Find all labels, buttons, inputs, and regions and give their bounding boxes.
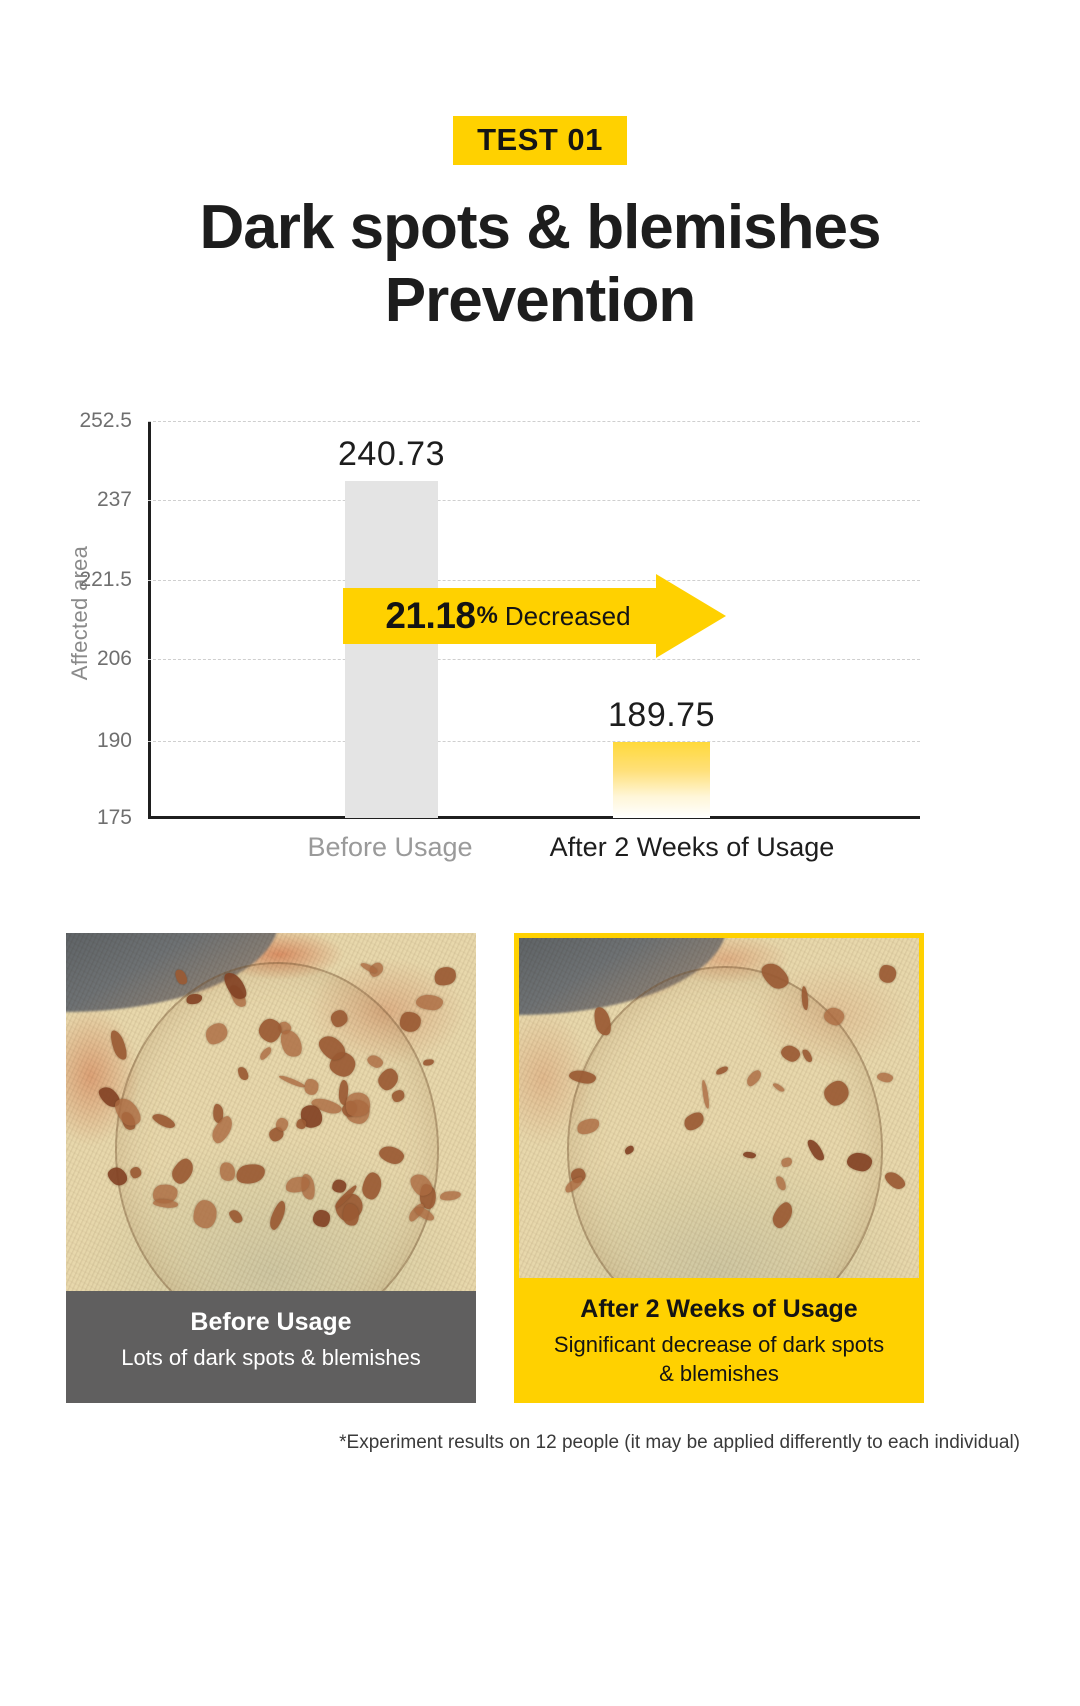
card-after-subtitle-line1: Significant decrease of dark spots — [554, 1332, 884, 1357]
chart-y-tick-label: 221.5 — [12, 568, 132, 592]
card-before-caption: Before Usage Lots of dark spots & blemis… — [66, 1291, 476, 1403]
decrease-arrow: 21.18 % Decreased — [343, 574, 726, 658]
decrease-arrow-text: 21.18 % Decreased — [343, 574, 673, 658]
card-before: Before Usage Lots of dark spots & blemis… — [66, 933, 476, 1403]
card-after: After 2 Weeks of Usage Significant decre… — [514, 933, 924, 1403]
card-before-subtitle: Lots of dark spots & blemishes — [76, 1344, 466, 1373]
chart-gridline — [148, 741, 920, 742]
page-title-line2: Prevention — [385, 266, 695, 335]
comparison-cards: Before Usage Lots of dark spots & blemis… — [0, 933, 1080, 1403]
test-badge: TEST 01 — [453, 116, 627, 165]
card-after-subtitle: Significant decrease of dark spots & ble… — [529, 1331, 909, 1388]
card-after-caption: After 2 Weeks of Usage Significant decre… — [519, 1278, 919, 1398]
chart-x-axis-line — [148, 816, 920, 819]
bar-after-value-label: 189.75 — [570, 696, 753, 735]
bar-before-value-label: 240.73 — [300, 435, 483, 474]
dark-spot — [313, 1210, 330, 1227]
test-badge-row: TEST 01 — [0, 0, 1080, 165]
chart-y-tick-label: 237 — [12, 488, 132, 512]
decrease-percent-symbol: % — [477, 602, 498, 630]
chart-y-axis-line — [148, 421, 151, 819]
bar-after — [613, 742, 710, 818]
chart-gridline — [148, 421, 920, 422]
chart-category-before: Before Usage — [245, 832, 535, 863]
footnote: *Experiment results on 12 people (it may… — [339, 1432, 1020, 1454]
chart-gridline — [148, 659, 920, 660]
chart-category-after: After 2 Weeks of Usage — [522, 832, 862, 863]
chart-y-axis-label: Affected area — [67, 493, 93, 733]
card-after-title: After 2 Weeks of Usage — [529, 1294, 909, 1325]
chart-y-tick-label: 175 — [12, 806, 132, 830]
page-root: TEST 01 Dark spots & blemishes Preventio… — [0, 0, 1080, 1706]
chart-y-tick-label: 190 — [12, 729, 132, 753]
chart-y-tick-label: 206 — [12, 647, 132, 671]
chart-y-tick-label: 252.5 — [12, 409, 132, 433]
photo-before — [66, 933, 476, 1291]
card-before-title: Before Usage — [76, 1307, 466, 1338]
page-title: Dark spots & blemishes Prevention — [0, 165, 1080, 337]
dark-spot — [332, 1179, 346, 1192]
photo-after — [519, 938, 919, 1288]
page-title-line1: Dark spots & blemishes — [200, 193, 881, 262]
dark-spot — [303, 1078, 318, 1095]
card-after-subtitle-line2: & blemishes — [659, 1361, 779, 1386]
decrease-percent-value: 21.18 — [385, 595, 475, 637]
decrease-word: Decreased — [505, 601, 631, 632]
chart-gridline — [148, 500, 920, 501]
skin-grain — [519, 938, 919, 1288]
